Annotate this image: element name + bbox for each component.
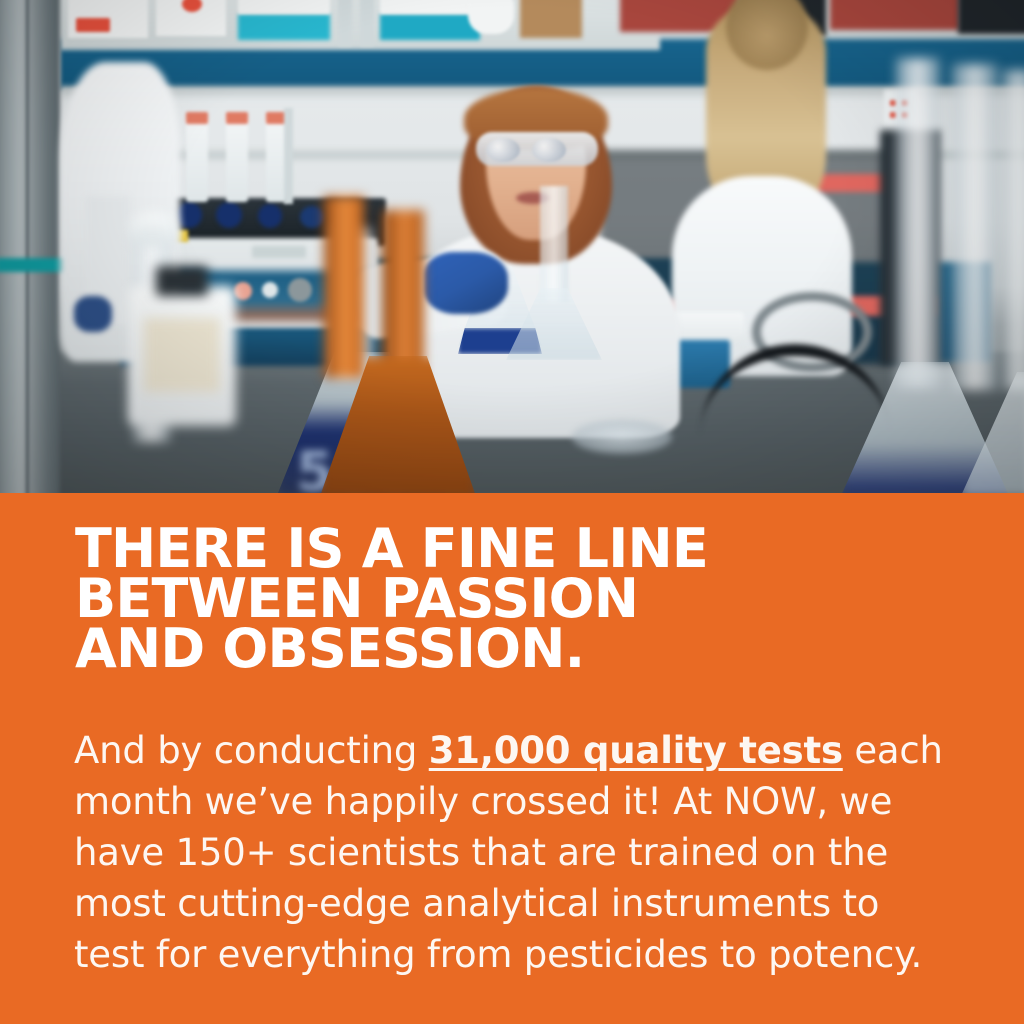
laboratory-photo: 500 — [0, 0, 1024, 493]
orange-message-panel: There is a fine line between passion and… — [0, 493, 1024, 1024]
photo-vignette — [0, 0, 1024, 493]
body-text-before: And by conducting — [74, 729, 429, 772]
body-paragraph: And by conducting 31,000 quality tests e… — [74, 725, 954, 980]
quality-tests-emphasis: 31,000 quality tests — [429, 729, 843, 772]
headline: There is a fine line between passion and… — [75, 524, 975, 674]
social-media-promo-card: 500 There is a fine line between passion… — [0, 0, 1024, 1024]
